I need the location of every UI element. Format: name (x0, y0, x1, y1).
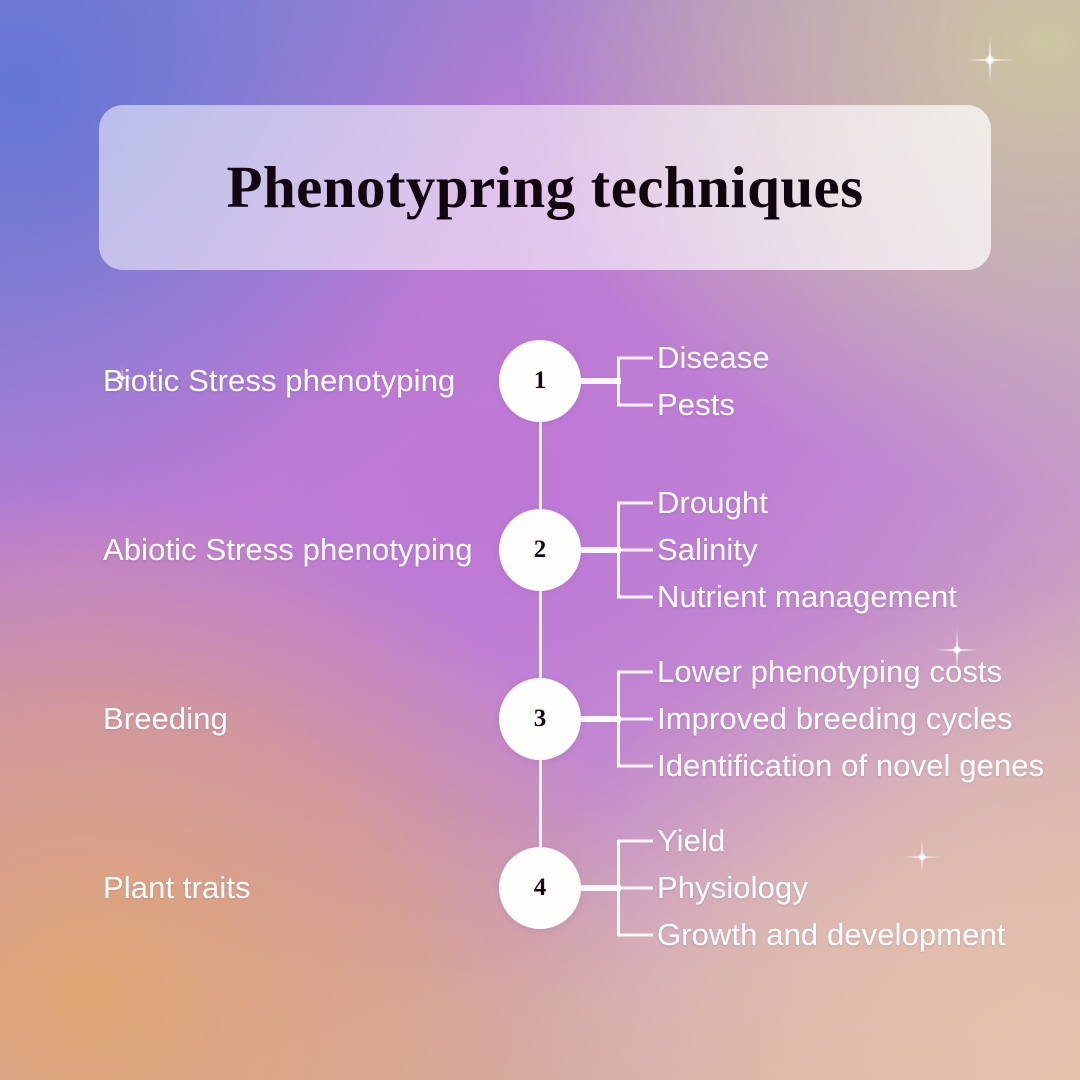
step-label: Breeding (103, 701, 228, 737)
step-sub-label: Growth and development (657, 917, 1006, 953)
step-branch (617, 887, 653, 890)
step-stem (575, 378, 621, 384)
step-node-1[interactable]: 1 (499, 340, 581, 422)
step-sub-label: Lower phenotyping costs (657, 654, 1002, 690)
step-branch (617, 403, 653, 406)
sparkle-core (985, 55, 995, 65)
step-sub-label: Drought (657, 485, 768, 521)
step-label: Plant traits (103, 870, 251, 906)
step-branch (617, 356, 653, 359)
step-sub-label: Identification of novel genes (657, 748, 1044, 784)
step-branch (617, 502, 653, 505)
step-number: 2 (534, 536, 547, 564)
step-branch (617, 718, 653, 721)
step-number: 4 (534, 874, 547, 902)
step-stem (575, 716, 621, 722)
step-label: Abiotic Stress phenotyping (103, 532, 473, 568)
step-node-4[interactable]: 4 (499, 847, 581, 929)
step-sub-label: Pests (657, 387, 735, 423)
page-title: Phenotypring techniques (227, 153, 864, 222)
step-branch (617, 549, 653, 552)
step-branch (617, 934, 653, 937)
step-branch (617, 765, 653, 768)
timeline-spine (539, 381, 542, 888)
step-sub-label: Salinity (657, 532, 758, 568)
sparkle-lower-right-icon (904, 839, 940, 875)
step-sub-label: Nutrient management (657, 579, 957, 615)
step-sub-label: Yield (657, 823, 725, 859)
step-stem (575, 547, 621, 553)
sparkle-top-right-icon (967, 37, 1013, 83)
title-card: Phenotypring techniques (99, 105, 991, 270)
step-branch (617, 840, 653, 843)
step-sub-label: Improved breeding cycles (657, 701, 1013, 737)
infographic-canvas: Phenotypring techniques Biotic Stress ph… (0, 0, 1080, 1080)
step-node-2[interactable]: 2 (499, 509, 581, 591)
step-sub-label: Physiology (657, 870, 808, 906)
step-number: 1 (534, 367, 547, 395)
step-number: 3 (534, 705, 547, 733)
step-sub-label: Disease (657, 340, 770, 376)
step-branch (617, 671, 653, 674)
step-stem (575, 885, 621, 891)
sparkle-core (918, 853, 926, 861)
step-node-3[interactable]: 3 (499, 678, 581, 760)
step-branch (617, 596, 653, 599)
step-label: Biotic Stress phenotyping (103, 363, 455, 399)
